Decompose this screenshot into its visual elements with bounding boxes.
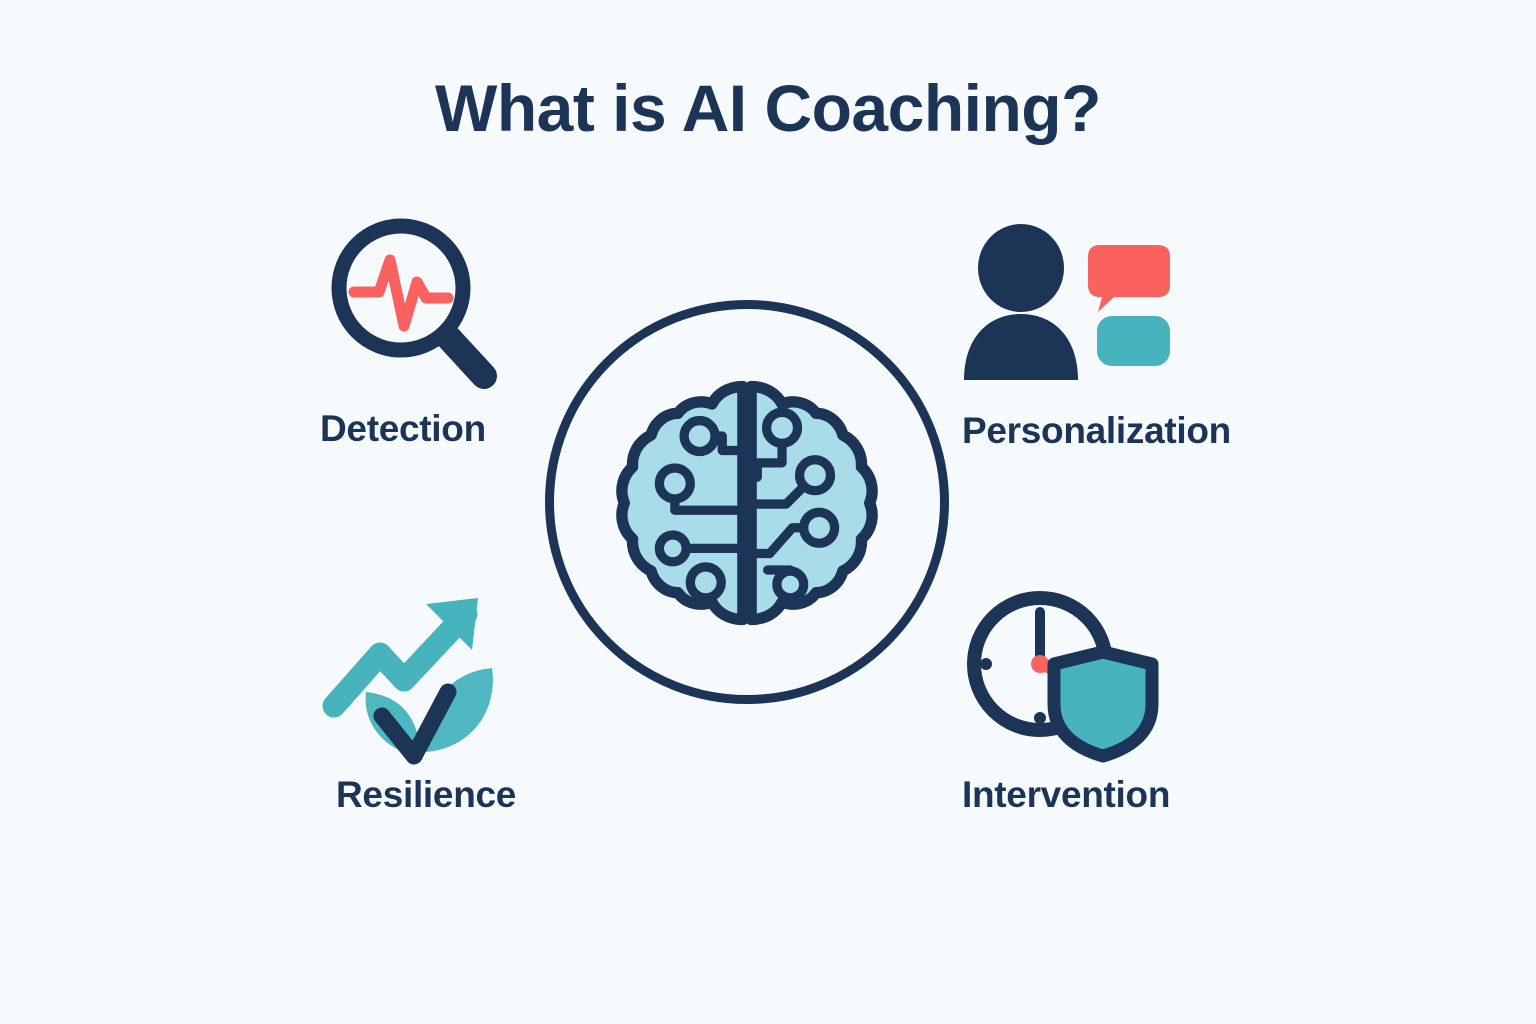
growth-arrow-leaf-icon <box>322 588 510 756</box>
node-intervention[interactable]: Intervention <box>958 588 1170 813</box>
node-detection[interactable]: Detection <box>318 216 514 447</box>
node-label-personalization: Personalization <box>962 412 1231 449</box>
node-label-resilience: Resilience <box>336 776 516 813</box>
node-label-detection: Detection <box>320 410 486 447</box>
node-resilience[interactable]: Resilience <box>322 588 516 813</box>
node-label-intervention: Intervention <box>962 776 1170 813</box>
node-personalization[interactable]: Personalization <box>956 222 1231 449</box>
center-hub <box>545 300 949 704</box>
infographic-canvas: What is AI Coaching? <box>0 0 1536 1024</box>
page-title: What is AI Coaching? <box>0 74 1536 143</box>
magnifier-pulse-icon <box>318 216 514 388</box>
person-chat-bubbles-icon <box>956 222 1172 384</box>
clock-shield-icon <box>958 588 1158 758</box>
brain-circuit-icon <box>613 368 881 636</box>
